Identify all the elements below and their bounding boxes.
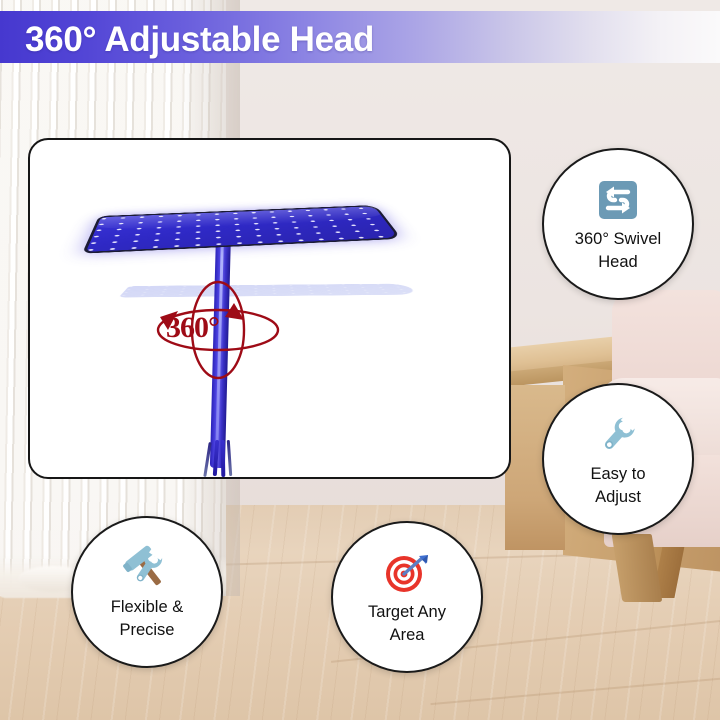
badge-label: Target Any Area bbox=[359, 601, 455, 648]
swap-arrows-icon bbox=[592, 174, 644, 226]
pole-strand bbox=[221, 440, 226, 477]
badge-label: Easy to Adjust bbox=[581, 463, 654, 510]
badge-line2: Precise bbox=[119, 621, 174, 639]
led-panel-head bbox=[82, 205, 402, 254]
badge-target-area[interactable]: Target Any Area bbox=[331, 521, 483, 673]
badge-line1: Flexible & bbox=[111, 598, 183, 616]
badge-flexible-precise[interactable]: Flexible & Precise bbox=[71, 516, 223, 668]
badge-line1: Easy to bbox=[590, 465, 645, 483]
page-title: 360° Adjustable Head bbox=[25, 20, 374, 60]
rotation-label: 360° bbox=[166, 311, 219, 345]
dart-target-icon bbox=[381, 547, 433, 599]
product-photo-panel: 360° bbox=[28, 138, 511, 479]
badge-easy-adjust[interactable]: Easy to Adjust bbox=[542, 383, 694, 535]
hammer-and-wrench-icon bbox=[121, 542, 173, 594]
badge-label: Flexible & Precise bbox=[102, 596, 192, 643]
badge-line2: Adjust bbox=[595, 488, 641, 506]
rotation-annotation: 360° bbox=[138, 275, 298, 385]
badge-line2: Head bbox=[598, 253, 637, 271]
pole-strand bbox=[227, 440, 233, 476]
product-marketing-image: 360° Adjustable Head 360° bbox=[0, 0, 720, 720]
badge-line2: Area bbox=[390, 626, 425, 644]
wrench-icon bbox=[592, 409, 644, 461]
badge-swivel-head[interactable]: 360° Swivel Head bbox=[542, 148, 694, 300]
badge-line1: Target Any bbox=[368, 603, 446, 621]
badge-line1: 360° Swivel bbox=[575, 230, 661, 248]
badge-label: 360° Swivel Head bbox=[566, 228, 670, 275]
